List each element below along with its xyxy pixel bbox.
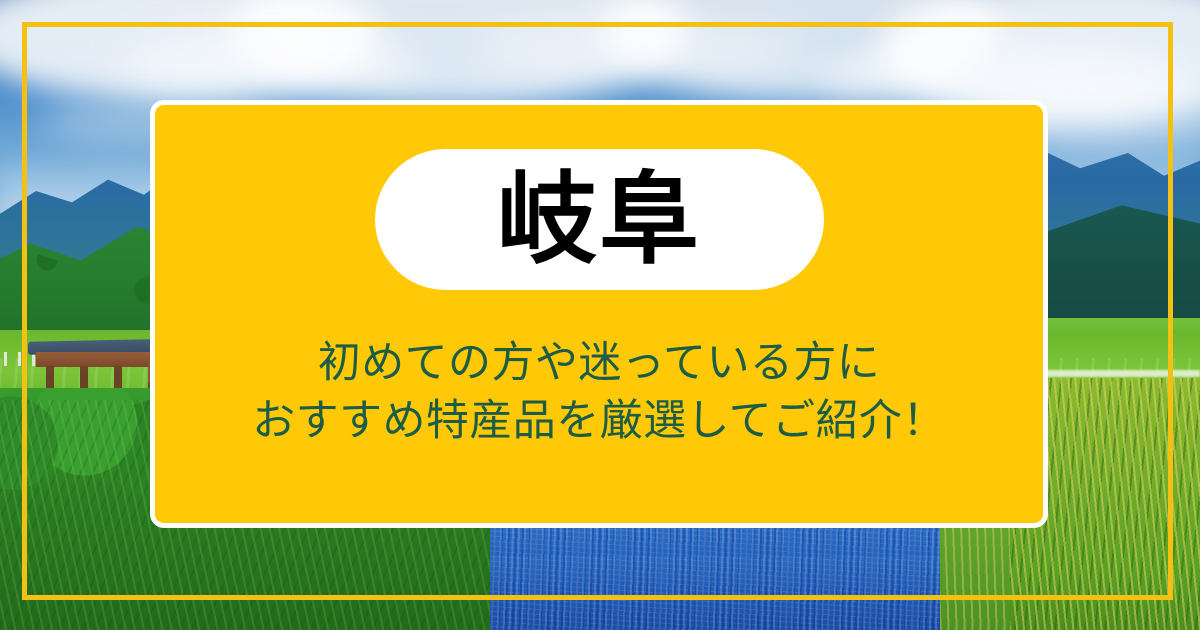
subtitle-line-1: 初めての方や迷っている方に [155,334,1043,392]
banner-canvas: 岐阜 初めての方や迷っている方に おすすめ特産品を厳選してご紹介！ [0,0,1200,630]
subtitle-block: 初めての方や迷っている方に おすすめ特産品を厳選してご紹介！ [155,334,1043,451]
prefecture-title: 岐阜 [497,170,701,270]
subtitle-line-2: おすすめ特産品を厳選してご紹介！ [155,392,1043,450]
content-card: 岐阜 初めての方や迷っている方に おすすめ特産品を厳選してご紹介！ [150,100,1048,528]
title-pill: 岐阜 [375,149,824,290]
